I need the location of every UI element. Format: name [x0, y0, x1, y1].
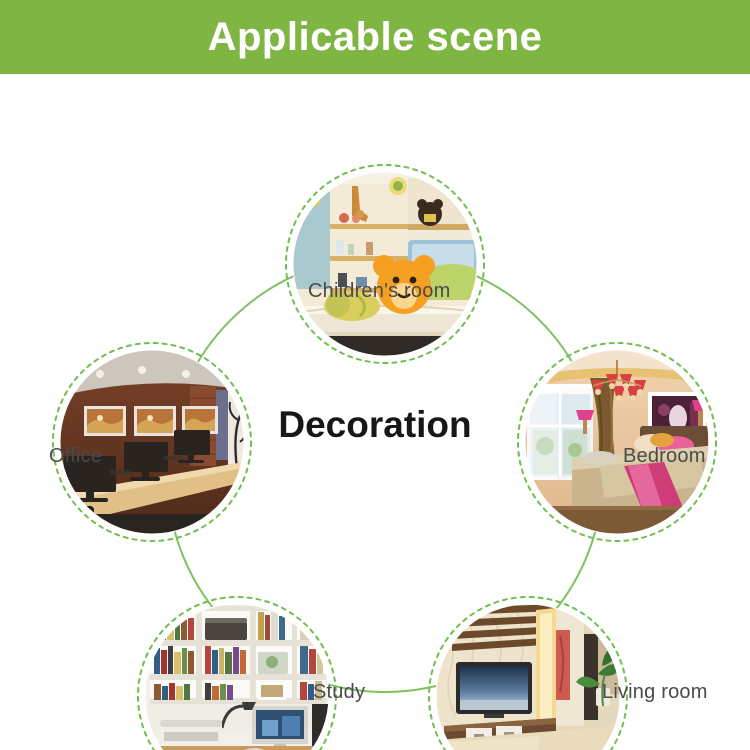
center-label: Decoration — [0, 404, 750, 446]
label-children-room: Children's room — [308, 280, 450, 303]
node-living-room[interactable] — [429, 597, 627, 750]
page-title: Applicable scene — [208, 17, 543, 57]
label-bedroom: Bedroom — [623, 445, 706, 468]
applicable-scene-infographic: Applicable scene — [0, 0, 750, 750]
label-living-room: Living room — [602, 681, 708, 704]
scene-diagram: Decoration Children's room Office Bedroo… — [0, 74, 750, 750]
node-study[interactable] — [138, 597, 336, 750]
living-room-photo — [436, 604, 622, 750]
study-photo — [145, 604, 330, 750]
node-children-room[interactable] — [286, 165, 484, 363]
header-banner: Applicable scene — [0, 0, 750, 74]
label-study: Study — [313, 681, 365, 704]
label-office: Office — [49, 445, 102, 468]
